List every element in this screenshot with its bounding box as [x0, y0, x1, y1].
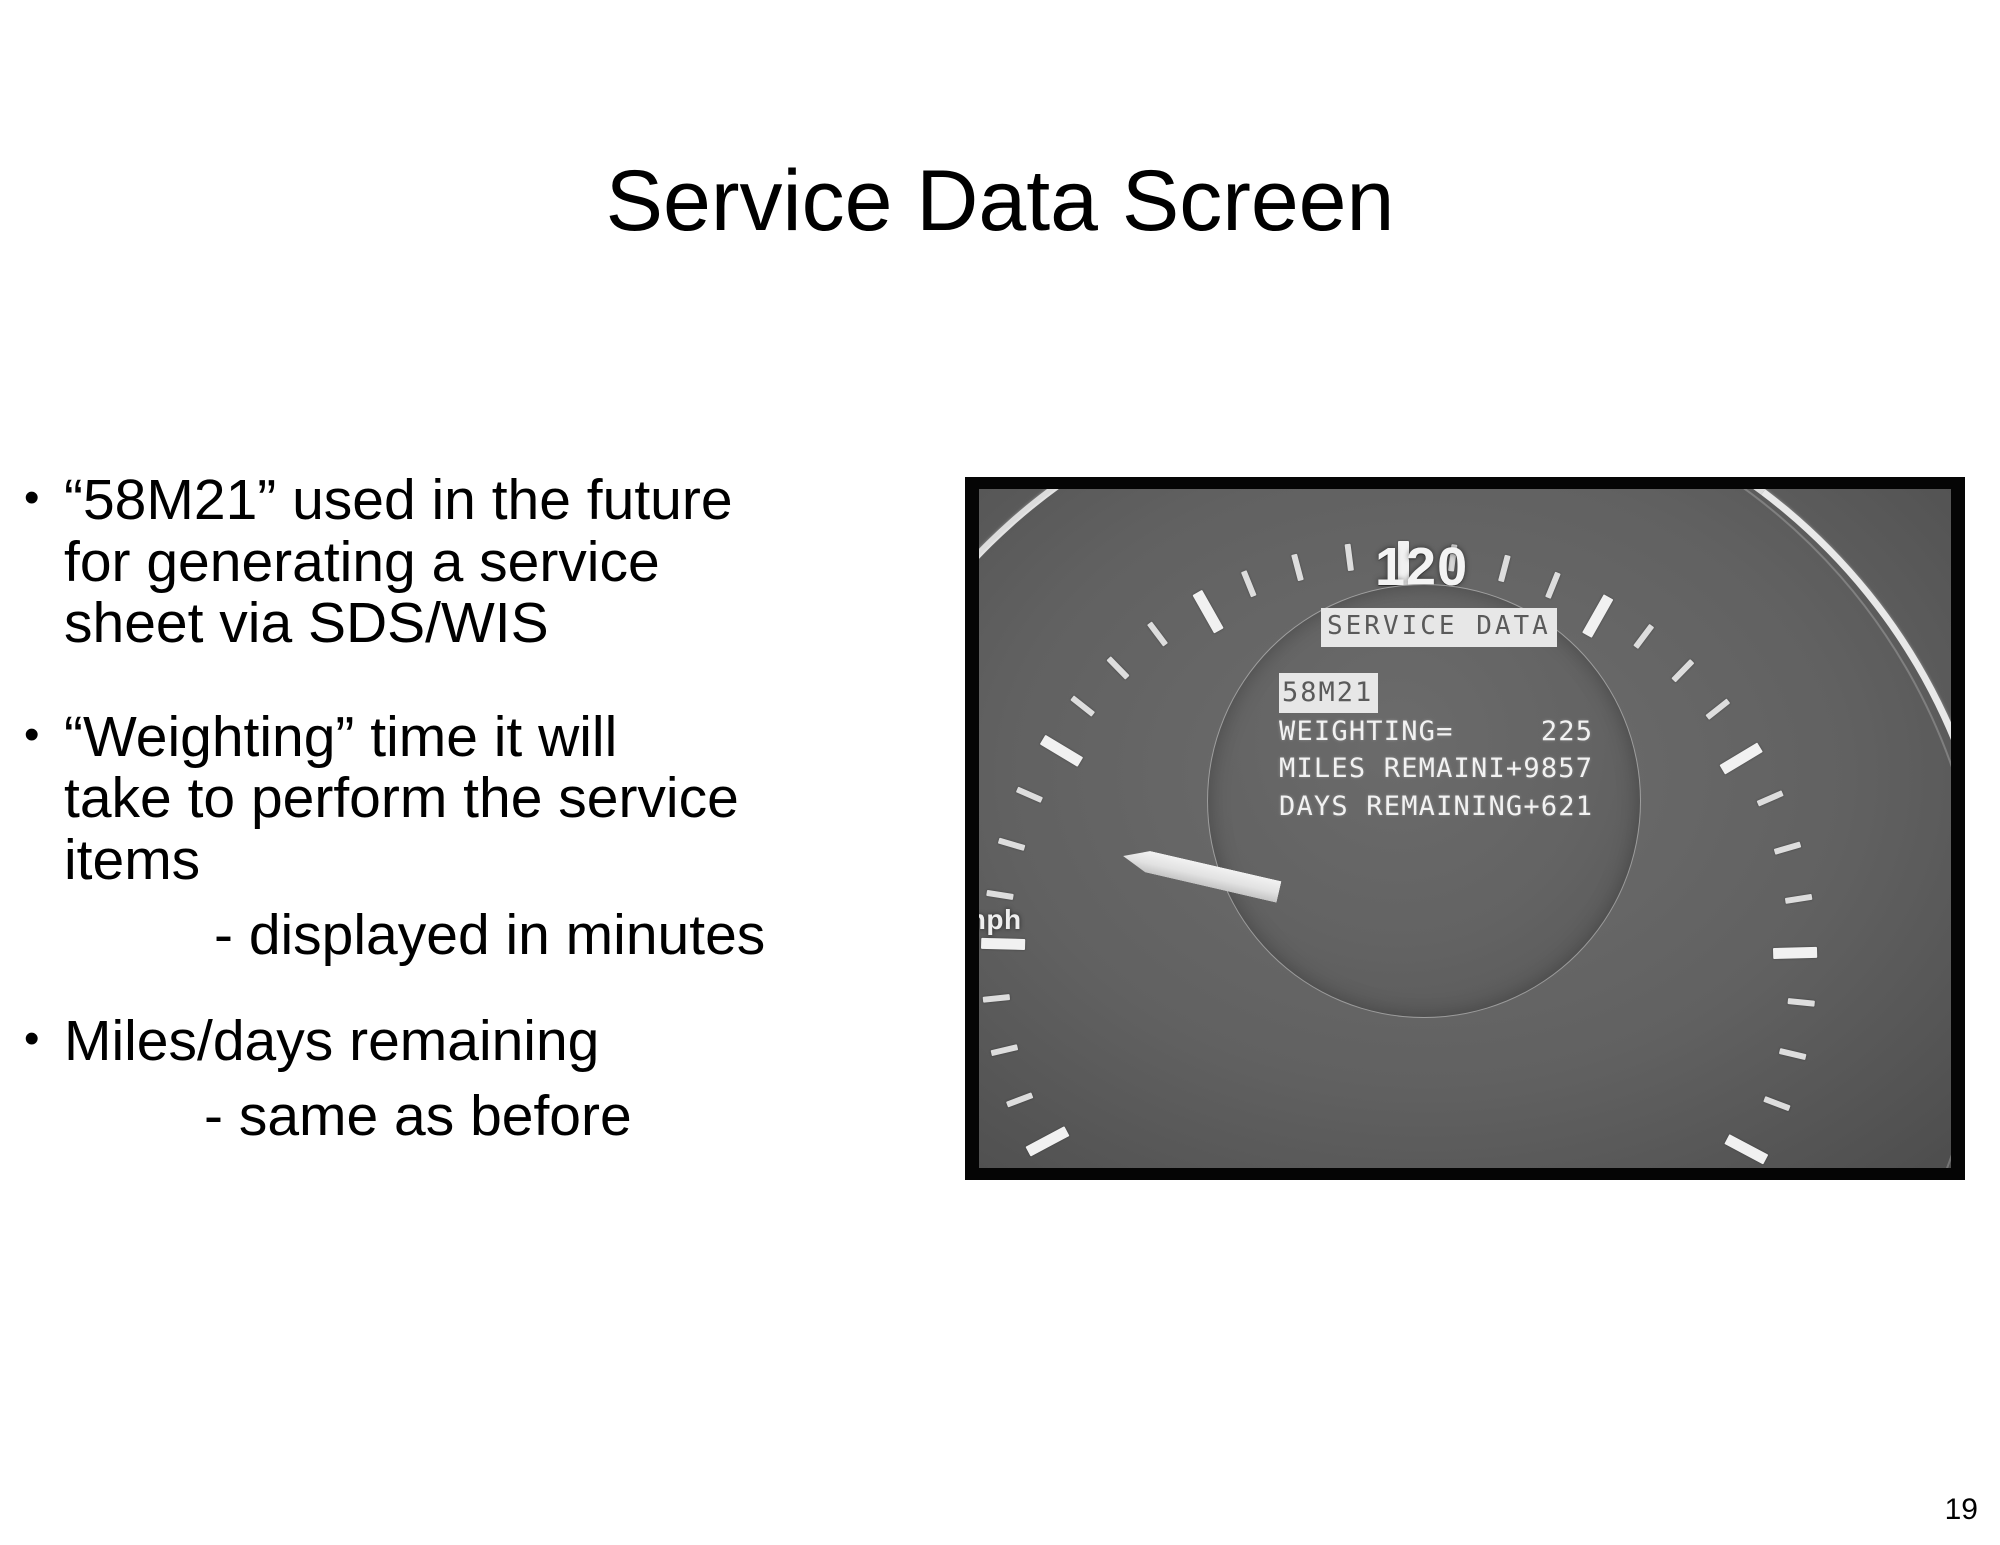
gauge-tick-major — [1076, 764, 1079, 767]
bullet-2-line-3: items — [64, 830, 924, 892]
gauge-tick-major — [1729, 1134, 1732, 1137]
gauge-tick-minor — [1785, 897, 1787, 899]
bullet-2-sub-1: - displayed in minutes — [214, 905, 924, 967]
gauge-tick-minor — [1124, 677, 1127, 680]
gauge-tick-major — [1213, 631, 1216, 634]
gauge-tick-major — [1067, 1134, 1070, 1137]
gauge-tick-major — [1719, 764, 1722, 767]
bullet-1-line-2: for generating a service — [64, 532, 924, 594]
speedometer-dial: 0 20 40 60 80 100 120 140 160 mph SERVIC… — [979, 489, 1951, 1168]
lcd-header-label: SERVICE DATA — [1321, 608, 1557, 647]
bullet-item-2: • “Weighting” time it will take to perfo… — [24, 707, 924, 967]
gauge-tick-minor — [1298, 579, 1300, 581]
lcd-service-code: 58M21 — [1279, 673, 1378, 713]
gauge-tick-minor — [1016, 1048, 1018, 1050]
page-title: Service Data Screen — [0, 158, 2000, 244]
page-number: 19 — [1945, 1493, 1978, 1527]
gauge-tick-minor — [1021, 848, 1023, 850]
gauge-tick-minor — [1008, 998, 1010, 1000]
gauge-tick-minor — [1774, 848, 1776, 850]
lcd-row-days-remaining: DAYS REMAINING+621 — [1279, 788, 1659, 825]
gauge-tick-minor — [1348, 569, 1350, 571]
gauge-tick-minor — [1090, 714, 1093, 717]
gauge-tick-minor — [1039, 801, 1042, 804]
gauge-tick-minor — [1779, 1048, 1781, 1050]
gauge-tick-minor — [1498, 579, 1500, 581]
lcd-display: SERVICE DATA 58M21 WEIGHTING= 225 MILES … — [1279, 607, 1659, 825]
bullet-marker-icon: • — [24, 470, 64, 525]
gauge-tick-minor — [1788, 998, 1790, 1000]
gauge-tick-minor — [1162, 644, 1165, 647]
gauge-tick-minor — [1545, 595, 1548, 598]
gauge-tick-major — [1023, 948, 1025, 950]
mph-unit-label: mph — [979, 904, 1022, 936]
bullet-1-line-3: sheet via SDS/WIS — [64, 593, 924, 655]
bullet-marker-icon: • — [24, 1011, 64, 1066]
gauge-tick-minor — [1031, 1096, 1034, 1099]
gauge-tick-minor — [1765, 1096, 1768, 1099]
bullet-2-line-2: take to perform the service — [64, 768, 924, 830]
bullet-list: • “58M21” used in the future for generat… — [24, 470, 924, 1180]
gauge-tick-minor — [1671, 677, 1674, 680]
gauge-tick-minor — [1250, 595, 1253, 598]
bullet-item-3: • Miles/days remaining - same as before — [24, 1011, 924, 1148]
gauge-tick-major — [1773, 948, 1775, 950]
gauge-tick-minor — [1705, 714, 1708, 717]
bullet-2-line-1: “Weighting” time it will — [64, 707, 924, 769]
gauge-tick-minor — [1757, 801, 1760, 804]
bullet-item-1: • “58M21” used in the future for generat… — [24, 470, 924, 655]
bullet-3-sub-1: - same as before — [204, 1086, 924, 1148]
bullet-1-line-1: “58M21” used in the future — [64, 470, 924, 532]
bullet-marker-icon: • — [24, 707, 64, 762]
bullet-3-line-1: Miles/days remaining — [64, 1011, 924, 1073]
dial-numeral-100: 100 — [1274, 489, 1367, 493]
lcd-row-weighting: WEIGHTING= 225 — [1279, 713, 1659, 750]
instrument-cluster-photo: 0 20 40 60 80 100 120 140 160 mph SERVIC… — [965, 477, 1965, 1180]
gauge-tick-minor — [1011, 897, 1013, 899]
lcd-row-miles-remaining: MILES REMAINI+9857 — [1279, 750, 1659, 787]
